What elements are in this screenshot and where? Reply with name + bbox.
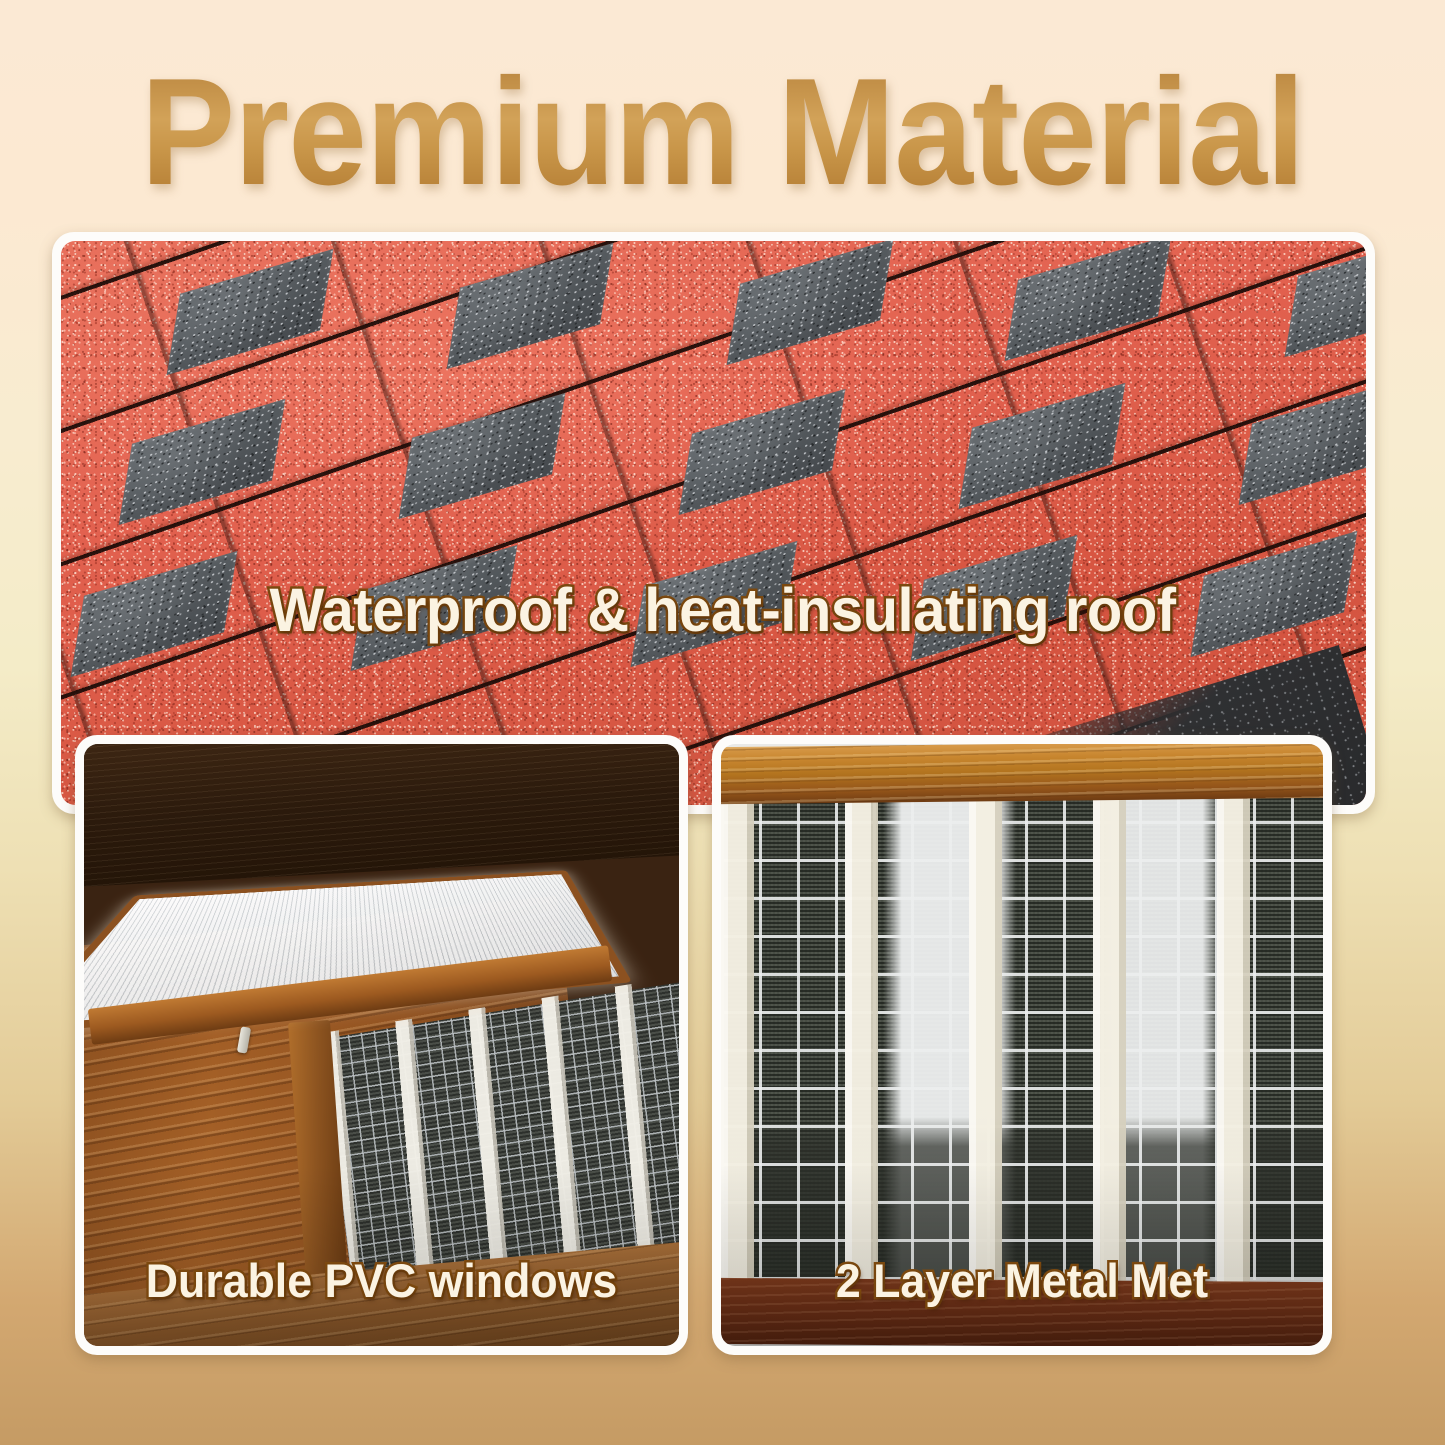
photo-image-roof: [61, 241, 1366, 805]
caption-roof: Waterproof & heat-insulating roof: [36, 575, 1409, 645]
premium-material-poster: Premium Material Waterp: [0, 0, 1445, 1445]
mesh-wooden-top-rail: [721, 744, 1323, 804]
poster-title-area: Premium Material: [0, 52, 1445, 222]
caption-pvc-windows: Durable PVC windows: [90, 1253, 672, 1308]
page-title: Premium Material: [141, 52, 1305, 212]
mesh-vertical-bars: [721, 795, 1323, 1286]
photo-card-roof: [52, 232, 1375, 814]
caption-metal-mesh: 2 Layer Metal Met: [728, 1253, 1317, 1308]
